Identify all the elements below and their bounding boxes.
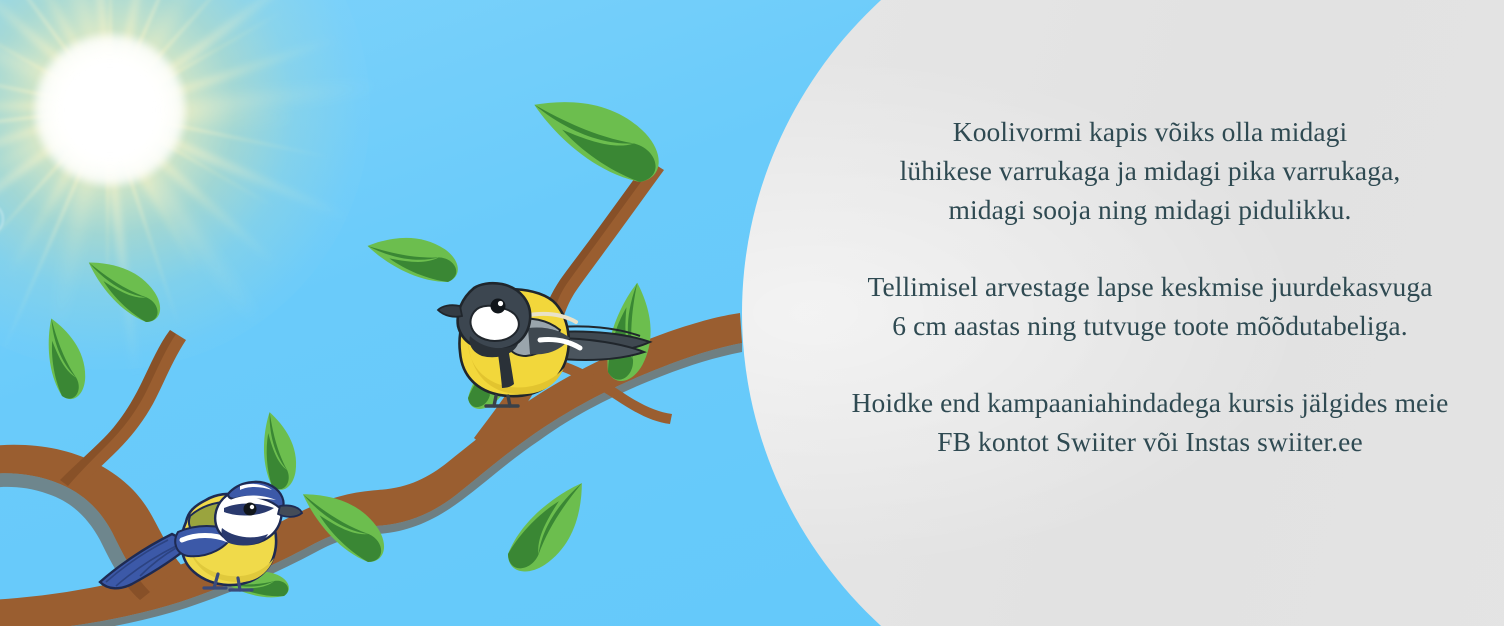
copy-p3-line1: Hoidke end kampaaniahindadega kursis jäl…	[800, 383, 1500, 422]
paragraph-gap-2	[800, 345, 1500, 383]
banner-stage: Koolivormi kapis võiks olla midagi lühik…	[0, 0, 1504, 626]
copy-p1-line2: lühikese varrukaga ja midagi pika varruk…	[800, 151, 1500, 190]
copy-p3-line2: FB kontot Swiiter või Instas swiiter.ee	[800, 422, 1500, 461]
copy-p2-line1: Tellimisel arvestage lapse keskmise juur…	[800, 267, 1500, 306]
marketing-copy: Koolivormi kapis võiks olla midagi lühik…	[800, 112, 1500, 461]
leaf-twig-mid	[368, 208, 464, 307]
copy-p2-line2: 6 cm aastas ning tutvuge toote mõõdutabe…	[800, 306, 1500, 345]
paragraph-gap-1	[800, 229, 1500, 267]
copy-p1-line1: Koolivormi kapis võiks olla midagi	[800, 112, 1500, 151]
leaf-upper-left-small	[89, 246, 164, 334]
leaf-left-mid	[29, 319, 100, 403]
copy-p1-line3: midagi sooja ning midagi pidulikku.	[800, 190, 1500, 229]
leaf-center-branch	[493, 483, 603, 576]
tree-illustration	[0, 0, 780, 626]
